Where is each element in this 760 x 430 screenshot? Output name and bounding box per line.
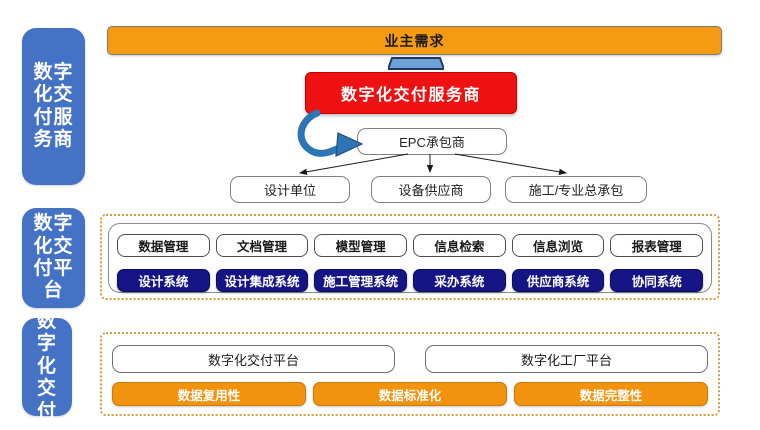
delivery-platform-row: 数字化交付平台 数字化工厂平台 [112, 345, 708, 373]
data-chip-reusability[interactable]: 数据复用性 [112, 382, 306, 406]
module-chip-report-management[interactable]: 报表管理 [610, 234, 703, 257]
system-label: 设计系统 [138, 271, 188, 290]
module-label: 文档管理 [237, 236, 287, 255]
data-attribute-row: 数据复用性 数据标准化 数据完整性 [112, 382, 708, 406]
system-label: 采办系统 [434, 271, 484, 290]
module-chip-data-management[interactable]: 数据管理 [117, 234, 210, 257]
system-label: 协同系统 [632, 271, 682, 290]
epc-contractor-label: EPC承包商 [399, 132, 465, 151]
sidebar-item-delivery-platform[interactable]: 数字化交付平台 [22, 208, 85, 308]
service-provider-to-epc-arrow-icon [301, 113, 362, 156]
module-label: 信息检索 [434, 236, 484, 255]
line-epc-to-design [300, 154, 408, 173]
module-label: 模型管理 [336, 236, 386, 255]
party-label: 设备供应商 [398, 180, 463, 199]
system-chip-procurement[interactable]: 采办系统 [413, 269, 506, 292]
module-label: 数据管理 [138, 236, 188, 255]
data-chip-label: 数据标准化 [379, 385, 442, 404]
platform-module-row: 数据管理 文档管理 模型管理 信息检索 信息浏览 报表管理 [114, 234, 706, 257]
epc-contractor-box[interactable]: EPC承包商 [357, 128, 507, 155]
service-provider-label: 数字化交付服务商 [341, 81, 481, 105]
diagram-canvas: 数字化交付服务商 数字化交付平台 数字化交付 业主需求 数字化交付服务商 EPC… [0, 0, 760, 430]
party-box-design-unit[interactable]: 设计单位 [230, 176, 350, 203]
system-chip-construction-management[interactable]: 施工管理系统 [314, 269, 407, 292]
module-label: 报表管理 [632, 236, 682, 255]
platform-system-row: 设计系统 设计集成系统 施工管理系统 采办系统 供应商系统 协同系统 [114, 269, 706, 292]
platform-box-label: 数字化交付平台 [208, 350, 299, 369]
module-chip-model-management[interactable]: 模型管理 [314, 234, 407, 257]
party-label: 施工/专业总承包 [529, 180, 624, 199]
owner-requirement-label: 业主需求 [385, 31, 445, 51]
party-label: 设计单位 [264, 180, 316, 199]
system-label: 施工管理系统 [323, 271, 398, 290]
platform-box-label: 数字化工厂平台 [521, 350, 612, 369]
module-label: 信息浏览 [533, 236, 583, 255]
sidebar-item-service-provider[interactable]: 数字化交付服务商 [22, 28, 85, 185]
digital-delivery-service-provider-box[interactable]: 数字化交付服务商 [305, 72, 517, 114]
party-box-equipment-supplier[interactable]: 设备供应商 [371, 176, 491, 203]
data-chip-integrity[interactable]: 数据完整性 [514, 382, 708, 406]
system-chip-design-integration[interactable]: 设计集成系统 [216, 269, 309, 292]
platform-box-digital-delivery-platform[interactable]: 数字化交付平台 [112, 345, 395, 373]
sidebar-item-label: 数字化交付 [36, 311, 58, 423]
sidebar-item-label: 数字化交付服务商 [32, 62, 76, 152]
platform-box-digital-factory-platform[interactable]: 数字化工厂平台 [425, 345, 708, 373]
data-chip-label: 数据完整性 [580, 385, 643, 404]
module-chip-information-browsing[interactable]: 信息浏览 [512, 234, 605, 257]
module-chip-information-retrieval[interactable]: 信息检索 [413, 234, 506, 257]
sidebar-item-digital-delivery[interactable]: 数字化交付 [22, 318, 72, 416]
data-chip-label: 数据复用性 [178, 385, 241, 404]
system-chip-collaboration[interactable]: 协同系统 [610, 269, 703, 292]
party-box-construction-contractor[interactable]: 施工/专业总承包 [505, 176, 647, 203]
system-label: 供应商系统 [527, 271, 590, 290]
system-chip-supplier[interactable]: 供应商系统 [512, 269, 605, 292]
owner-requirement-banner[interactable]: 业主需求 [107, 26, 722, 55]
system-label: 设计集成系统 [225, 271, 300, 290]
line-epc-to-construction [455, 154, 566, 173]
module-chip-document-management[interactable]: 文档管理 [216, 234, 309, 257]
data-chip-standardization[interactable]: 数据标准化 [313, 382, 507, 406]
banner-to-provider-connector-icon [388, 56, 444, 70]
sidebar-item-label: 数字化交付平台 [32, 213, 76, 303]
system-chip-design[interactable]: 设计系统 [117, 269, 210, 292]
